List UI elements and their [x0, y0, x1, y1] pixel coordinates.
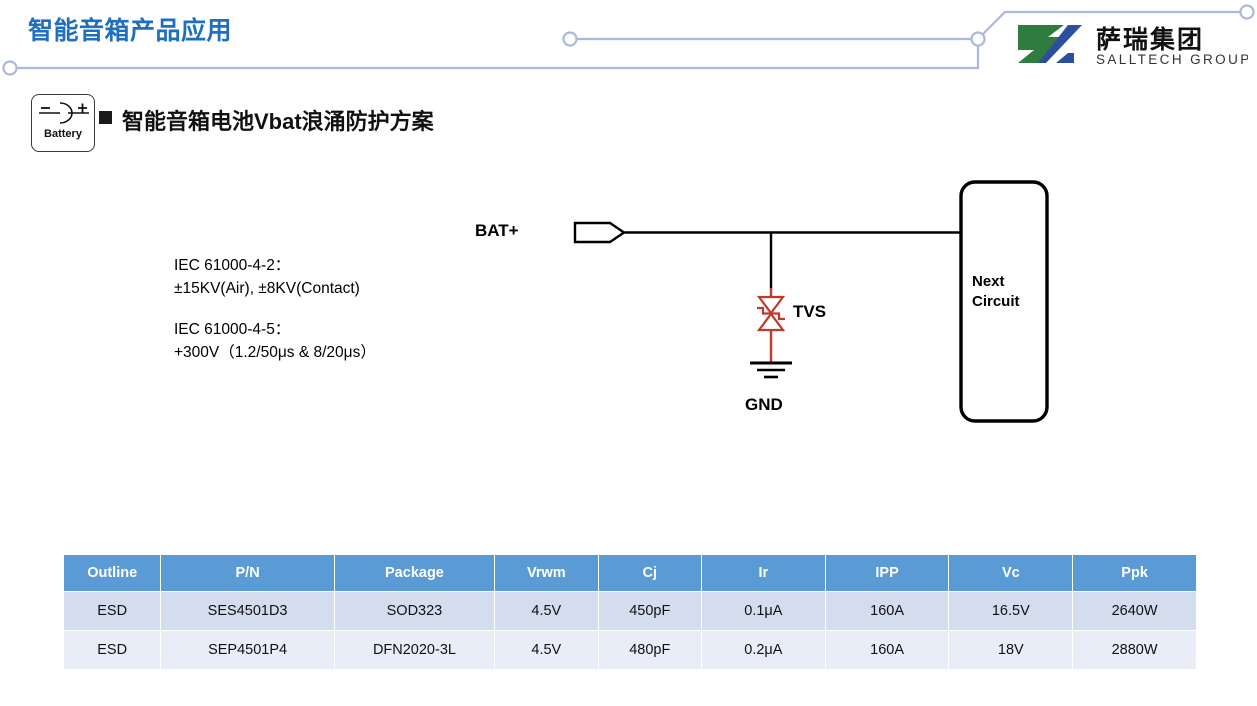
- cell-outline: ESD: [64, 592, 160, 630]
- table-row: ESD SEP4501P4 DFN2020-3L 4.5V 480pF 0.2μ…: [64, 631, 1196, 669]
- logo-cn-name: 萨瑞集团: [1096, 25, 1204, 54]
- cell-ipp: 160A: [826, 592, 949, 630]
- battery-badge-label: Battery: [32, 128, 94, 140]
- col-cj: Cj: [599, 555, 701, 591]
- spec-line-1: IEC 61000-4-2：: [174, 254, 376, 277]
- spec-line-3: IEC 61000-4-5：: [174, 318, 376, 341]
- tvs-diode-icon: [757, 297, 785, 330]
- next-circuit-line1: Next: [972, 272, 1020, 292]
- tvs-label: TVS: [793, 302, 826, 322]
- col-vrwm: Vrwm: [495, 555, 597, 591]
- brand-logo: 萨瑞集团 SALLTECH GROUP: [1012, 19, 1248, 69]
- col-ir: Ir: [702, 555, 825, 591]
- logo-en-name: SALLTECH GROUP: [1096, 52, 1248, 67]
- bat-plus-label: BAT+: [475, 221, 519, 241]
- table-header-row: Outline P/N Package Vrwm Cj Ir IPP Vc Pp…: [64, 555, 1196, 591]
- table-row: ESD SES4501D3 SOD323 4.5V 450pF 0.1μA 16…: [64, 592, 1196, 630]
- col-ipp: IPP: [826, 555, 949, 591]
- cell-ppk: 2880W: [1073, 631, 1196, 669]
- cell-cj: 450pF: [599, 592, 701, 630]
- cell-pn: SEP4501P4: [161, 631, 333, 669]
- bat-connector-icon: [575, 223, 624, 242]
- cell-pn: SES4501D3: [161, 592, 333, 630]
- decor-node-left: [4, 62, 17, 75]
- cell-ipp: 160A: [826, 631, 949, 669]
- decor-node-middle: [564, 33, 577, 46]
- next-circuit-line2: Circuit: [972, 292, 1020, 312]
- decor-node-right: [1241, 6, 1254, 19]
- section-bullet-icon: [99, 111, 112, 124]
- cell-vc: 16.5V: [949, 592, 1072, 630]
- spec-spacer: [174, 300, 376, 318]
- col-vc: Vc: [949, 555, 1072, 591]
- col-pn: P/N: [161, 555, 333, 591]
- battery-icon: [35, 97, 93, 129]
- cell-cj: 480pF: [599, 631, 701, 669]
- spec-line-4: +300V（1.2/50μs & 8/20μs）: [174, 341, 376, 364]
- cell-vrwm: 4.5V: [495, 631, 597, 669]
- cell-ir: 0.1μA: [702, 592, 825, 630]
- spec-line-2: ±15KV(Air), ±8KV(Contact): [174, 277, 376, 300]
- page-title: 智能音箱产品应用: [28, 11, 232, 47]
- cell-vrwm: 4.5V: [495, 592, 597, 630]
- section-heading: 智能音箱电池Vbat浪涌防护方案: [122, 104, 434, 136]
- decor-node-junction: [972, 33, 985, 46]
- cell-outline: ESD: [64, 631, 160, 669]
- col-outline: Outline: [64, 555, 160, 591]
- spec-text-block: IEC 61000-4-2： ±15KV(Air), ±8KV(Contact)…: [174, 254, 376, 364]
- gnd-label: GND: [745, 395, 783, 415]
- col-package: Package: [335, 555, 494, 591]
- col-ppk: Ppk: [1073, 555, 1196, 591]
- battery-badge: Battery: [31, 94, 95, 152]
- spec-table: Outline P/N Package Vrwm Cj Ir IPP Vc Pp…: [63, 554, 1197, 670]
- cell-ppk: 2640W: [1073, 592, 1196, 630]
- cell-package: DFN2020-3L: [335, 631, 494, 669]
- cell-ir: 0.2μA: [702, 631, 825, 669]
- ground-icon: [750, 363, 792, 377]
- next-circuit-label: Next Circuit: [972, 272, 1020, 312]
- cell-vc: 18V: [949, 631, 1072, 669]
- cell-package: SOD323: [335, 592, 494, 630]
